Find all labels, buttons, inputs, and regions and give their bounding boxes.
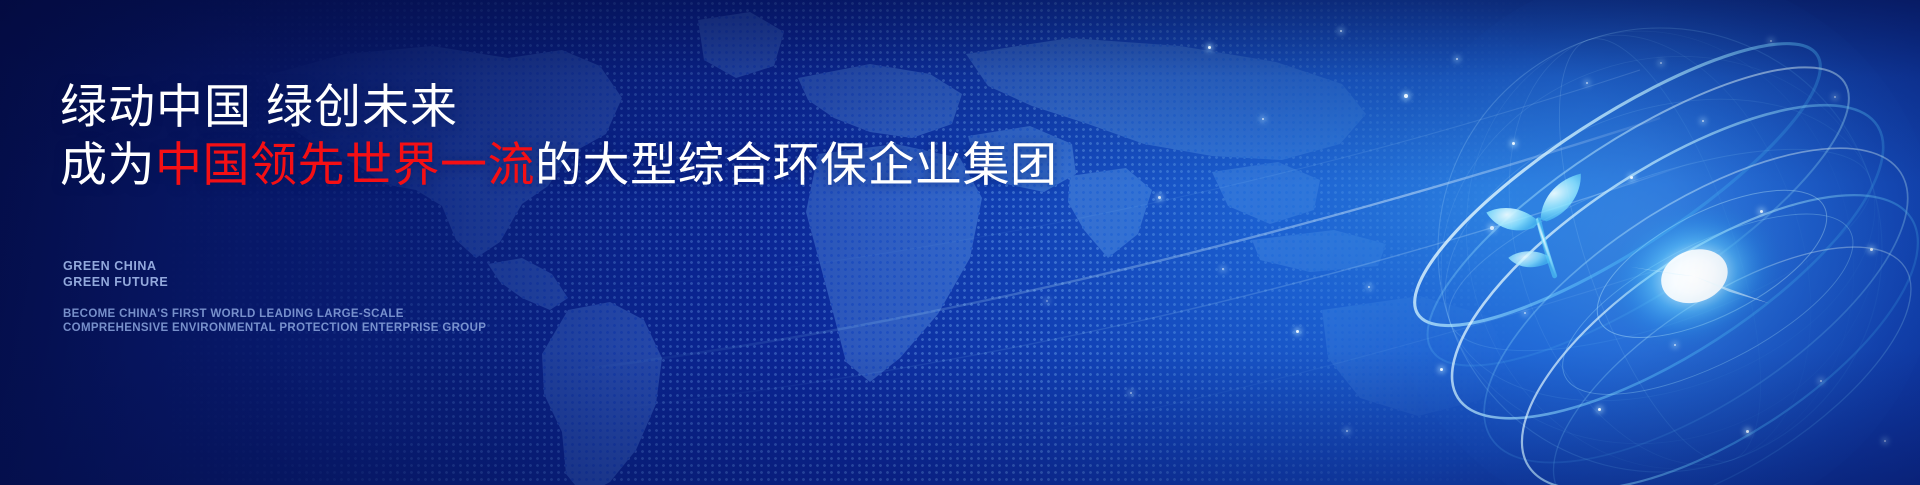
- subcopy-line-2: COMPREHENSIVE ENVIRONMENTAL PROTECTION E…: [63, 321, 486, 335]
- headline: 绿动中国 绿创未来 成为中国领先世界一流的大型综合环保企业集团: [60, 78, 1060, 194]
- subcopy-line-1: BECOME CHINA'S FIRST WORLD LEADING LARGE…: [63, 307, 486, 321]
- headline-line-1: 绿动中国 绿创未来: [60, 78, 1060, 136]
- headline-prefix: 成为: [60, 138, 155, 191]
- headline-line-2: 成为中国领先世界一流的大型综合环保企业集团: [60, 136, 1060, 194]
- headline-highlight: 中国领先世界一流: [155, 138, 535, 191]
- hero-banner: 绿动中国 绿创未来 成为中国领先世界一流的大型综合环保企业集团 GREEN CH…: [0, 0, 1920, 485]
- banner-copy: 绿动中国 绿创未来 成为中国领先世界一流的大型综合环保企业集团 GREEN CH…: [60, 0, 1060, 485]
- headline-suffix: 的大型综合环保企业集团: [535, 138, 1058, 191]
- tagline: GREEN CHINA GREEN FUTURE: [63, 258, 168, 290]
- tagline-line-1: GREEN CHINA: [63, 258, 168, 274]
- subcopy: BECOME CHINA'S FIRST WORLD LEADING LARGE…: [63, 307, 486, 335]
- tagline-line-2: GREEN FUTURE: [63, 274, 168, 290]
